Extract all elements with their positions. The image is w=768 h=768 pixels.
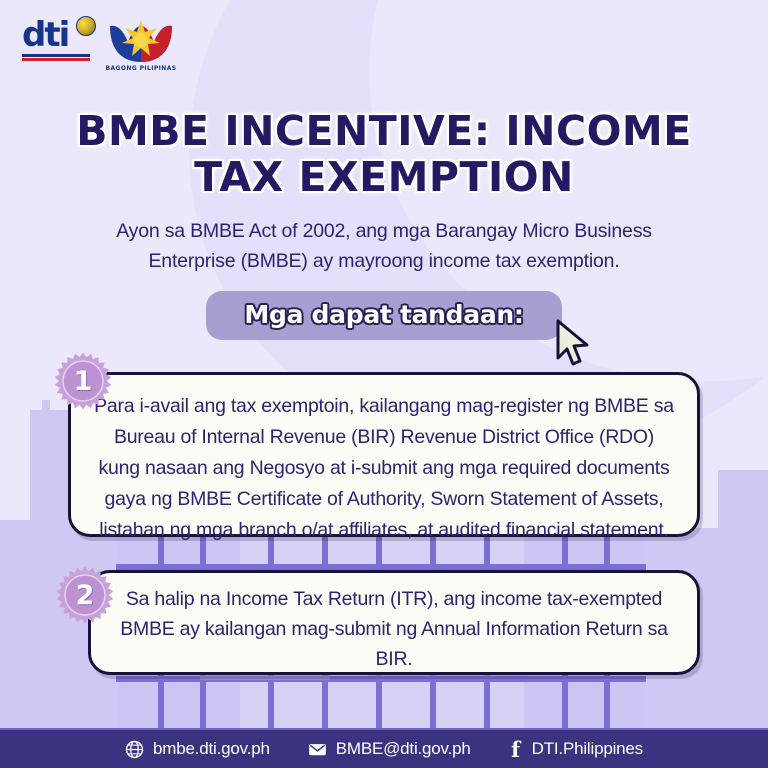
bagong-pilipinas-label: BAGONG PILIPINAS xyxy=(104,65,178,72)
subtitle-text: Ayon sa BMBE Act of 2002, ang mga Barang… xyxy=(74,216,694,276)
info-card-2: Sa halip na Income Tax Return (ITR), ang… xyxy=(88,570,700,675)
step-badge-2: 2 xyxy=(56,566,114,624)
footer-email[interactable]: BMBE@dti.gov.ph xyxy=(308,739,471,759)
page-title: BMBE INCENTIVE: INCOME TAX EXEMPTION xyxy=(40,108,728,200)
bagong-pilipinas-logo: BAGONG PILIPINAS xyxy=(104,16,178,72)
step-badge-2-number: 2 xyxy=(76,582,95,609)
reminders-banner-label: Mga dapat tandaan: xyxy=(244,300,523,329)
footer-bar: bmbe.dti.gov.ph BMBE@dti.gov.ph f DTI.Ph… xyxy=(0,728,768,768)
dti-logo-bars xyxy=(22,54,90,61)
infographic-poster: dti BAGONG PILIPINAS BMBE INCENTIVE: INC… xyxy=(0,0,768,768)
banner-row: Mga dapat tandaan: xyxy=(0,291,768,340)
dti-logo-bar-red xyxy=(22,58,90,61)
info-card-1-text: Para i-avail ang tax exemptoin, kailanga… xyxy=(71,375,697,546)
bagong-pilipinas-emblem-icon xyxy=(104,16,178,64)
facebook-icon: f xyxy=(509,740,523,759)
info-card-2-text: Sa halip na Income Tax Return (ITR), ang… xyxy=(91,573,697,674)
globe-icon xyxy=(125,740,144,759)
step-badge-1: 1 xyxy=(54,352,112,410)
footer-facebook-label: DTI.Philippines xyxy=(532,739,643,759)
logo-group: dti BAGONG PILIPINAS xyxy=(22,16,178,72)
dti-logo: dti xyxy=(22,18,94,70)
footer-website[interactable]: bmbe.dti.gov.ph xyxy=(125,739,270,759)
reminders-banner: Mga dapat tandaan: xyxy=(206,291,561,340)
envelope-icon xyxy=(308,740,327,759)
step-badge-1-number: 1 xyxy=(74,368,93,395)
info-card-1: Para i-avail ang tax exemptoin, kailanga… xyxy=(68,372,700,537)
globe-icon xyxy=(76,16,96,36)
footer-facebook[interactable]: f DTI.Philippines xyxy=(509,739,643,759)
footer-website-label: bmbe.dti.gov.ph xyxy=(153,739,270,759)
cursor-arrow-icon xyxy=(552,318,596,368)
footer-email-label: BMBE@dti.gov.ph xyxy=(336,739,471,759)
